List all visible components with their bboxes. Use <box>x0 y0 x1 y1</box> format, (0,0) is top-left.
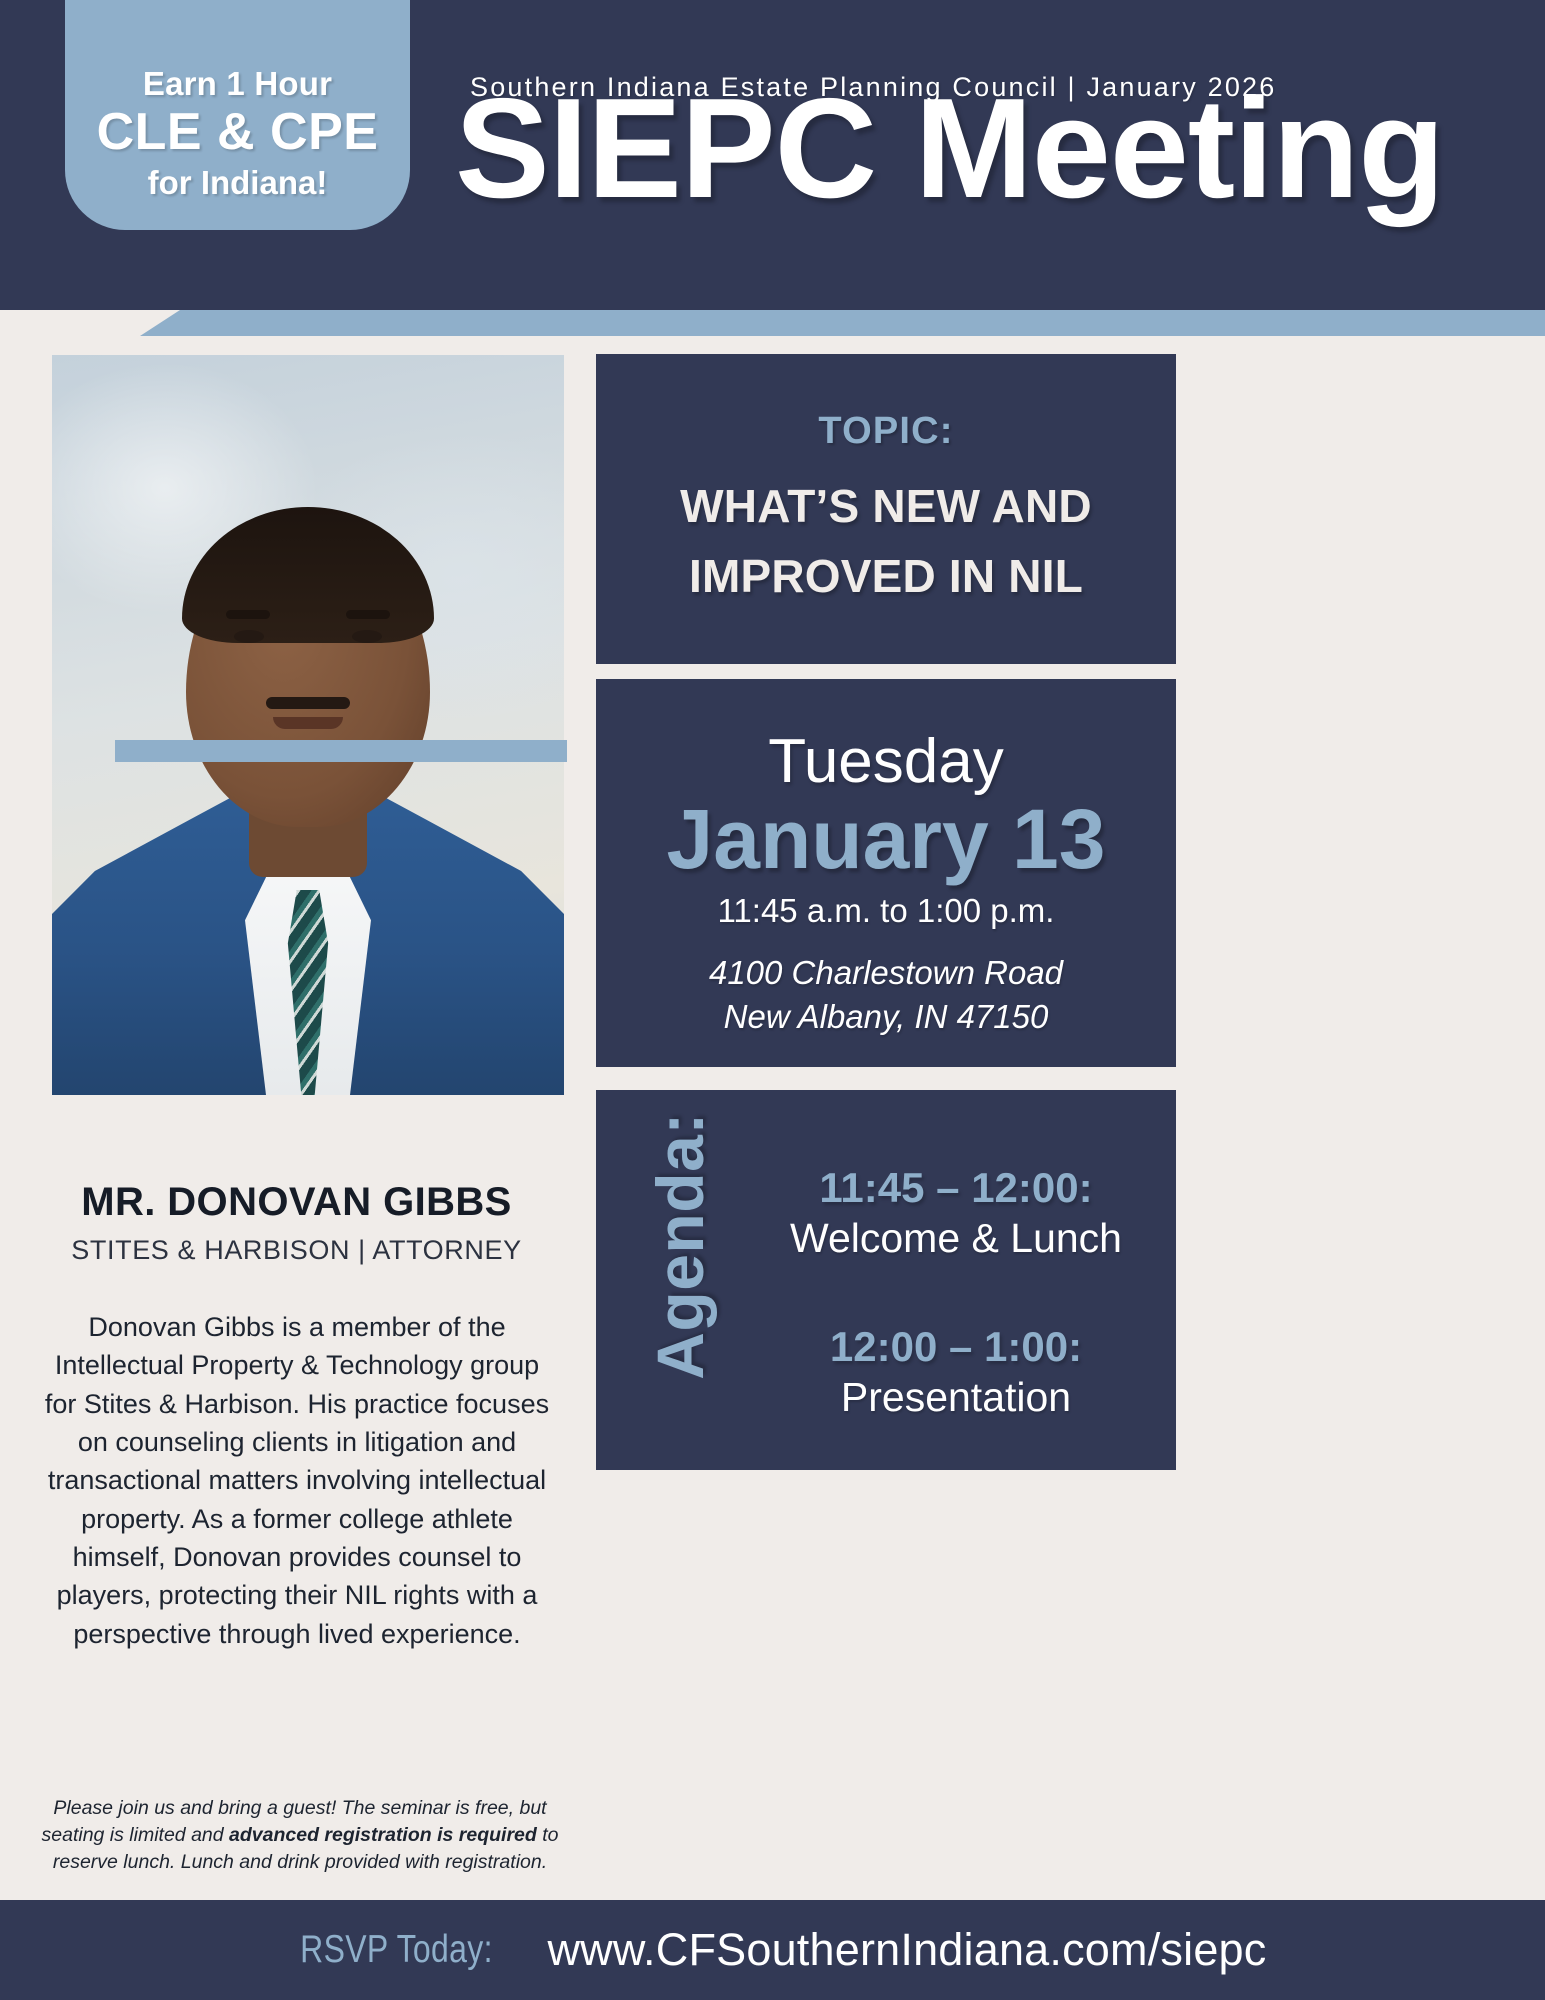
topic-card: TOPIC: WHAT’S NEW AND IMPROVED IN NIL <box>596 354 1176 664</box>
event-address-line-1: 4100 Charlestown Road <box>596 951 1176 995</box>
page-header: Earn 1 Hour CLE & CPE for Indiana! South… <box>0 0 1545 310</box>
agenda-card: Agenda: 11:45 – 12:00: Welcome & Lunch 1… <box>596 1090 1176 1470</box>
agenda-item-desc: Presentation <box>756 1373 1156 1421</box>
badge-line-for-indiana: for Indiana! <box>148 164 328 202</box>
badge-line-cle-cpe: CLE & CPE <box>97 105 379 160</box>
agenda-item: 11:45 – 12:00: Welcome & Lunch <box>756 1164 1156 1263</box>
page-footer: RSVP Today: www.CFSouthernIndiana.com/si… <box>0 1900 1545 2000</box>
rsvp-url[interactable]: www.CFSouthernIndiana.com/siepc <box>547 1924 1266 1976</box>
agenda-spacer <box>756 1263 1156 1323</box>
event-details-card: Tuesday January 13 11:45 a.m. to 1:00 p.… <box>596 679 1176 1067</box>
photo-eyebrow-right <box>346 610 390 619</box>
rsvp-label: RSVP Today: <box>300 1928 493 1972</box>
speaker-role: STITES & HARBISON | ATTORNEY <box>24 1235 569 1266</box>
badge-line-earn: Earn 1 Hour <box>143 65 332 103</box>
cle-cpe-badge: Earn 1 Hour CLE & CPE for Indiana! <box>65 0 410 230</box>
agenda-item: 12:00 – 1:00: Presentation <box>756 1323 1156 1422</box>
speaker-bio: Donovan Gibbs is a member of the Intelle… <box>36 1308 558 1653</box>
photo-moustache <box>266 697 350 709</box>
photo-accent-bar <box>115 740 567 762</box>
agenda-item-desc: Welcome & Lunch <box>756 1214 1156 1262</box>
agenda-item-time: 11:45 – 12:00: <box>756 1164 1156 1212</box>
fineprint-note: Please join us and bring a guest! The se… <box>40 1795 560 1876</box>
agenda-list: 11:45 – 12:00: Welcome & Lunch 12:00 – 1… <box>756 1164 1156 1421</box>
event-weekday: Tuesday <box>596 731 1176 793</box>
photo-eye-left <box>234 630 264 643</box>
event-date: January 13 <box>596 797 1176 881</box>
event-time: 11:45 a.m. to 1:00 p.m. <box>596 892 1176 930</box>
topic-title: WHAT’S NEW AND IMPROVED IN NIL <box>626 472 1146 612</box>
header-accent-stripe <box>140 310 1545 336</box>
photo-eyebrow-left <box>226 610 270 619</box>
agenda-item-time: 12:00 – 1:00: <box>756 1323 1156 1371</box>
page-title: SIEPC Meeting <box>455 78 1515 220</box>
speaker-photo <box>52 355 564 1095</box>
photo-mouth <box>273 717 343 729</box>
event-address-line-2: New Albany, IN 47150 <box>596 995 1176 1039</box>
speaker-photo-wrap <box>52 355 564 1095</box>
speaker-name: MR. DONOVAN GIBBS <box>24 1180 569 1225</box>
fineprint-bold: advanced registration is required <box>229 1824 537 1846</box>
event-address: 4100 Charlestown Road New Albany, IN 471… <box>596 951 1176 1039</box>
photo-eye-right <box>352 630 382 643</box>
agenda-heading: Agenda: <box>642 1096 718 1396</box>
topic-label: TOPIC: <box>596 410 1176 453</box>
